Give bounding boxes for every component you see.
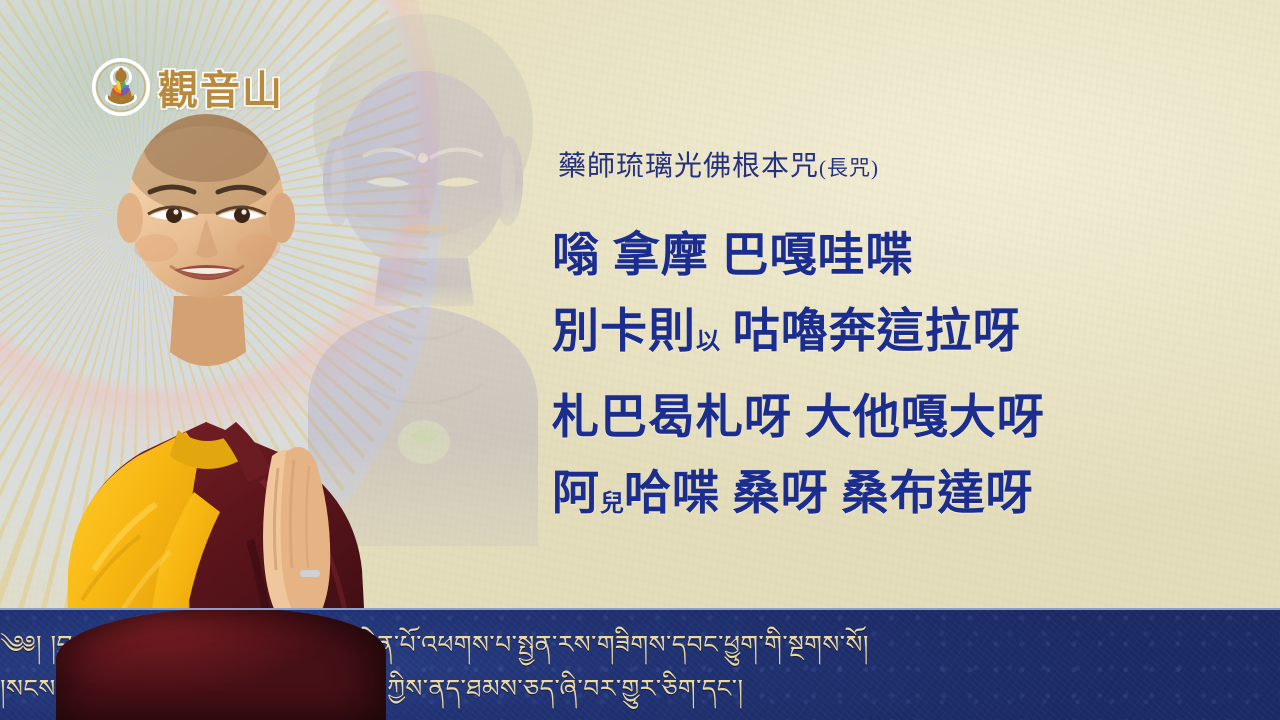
- channel-logo[interactable]: 觀音山: [92, 58, 284, 116]
- mantra-title: 藥師琉璃光佛根本咒(長咒): [558, 144, 1252, 184]
- mantra-line-4-pre: 阿: [552, 468, 600, 520]
- video-frame: 觀音山 藥師琉璃光佛根本咒(長咒) 嗡 拿摩 巴嘎哇喋 別卡則以 咕嚕奔這拉呀 …: [0, 0, 1280, 720]
- mantra-line-2: 別卡則以 咕嚕奔這拉呀: [552, 294, 1252, 380]
- mantra-text-block: 藥師琉璃光佛根本咒(長咒) 嗡 拿摩 巴嘎哇喋 別卡則以 咕嚕奔這拉呀 札巴曷札…: [552, 144, 1252, 542]
- mantra-line-4-post: 哈喋 桑呀 桑布達呀: [624, 468, 1034, 520]
- mantra-line-2-pre: 別卡則: [552, 306, 696, 358]
- mantra-line-2-small-gloss: 以: [696, 329, 720, 355]
- mantra-line-2-post: 咕嚕奔這拉呀: [720, 306, 1021, 358]
- mantra-line-1: 嗡 拿摩 巴嘎哇喋: [552, 218, 1252, 294]
- mantra-line-4-small-gloss: 兒: [600, 491, 624, 517]
- mantra-line-4: 阿兒哈喋 桑呀 桑布達呀: [552, 456, 1252, 542]
- tibetan-script-band: ༄༅། །བྱང་ཆུབ་སེམས་དཔའ་སེམས་དཔའ་ཆེན་པོ་འཕ…: [0, 608, 1280, 720]
- mantra-title-paren: (長咒): [819, 156, 879, 180]
- logo-text: 觀音山: [158, 58, 284, 116]
- mantra-line-3-text: 札巴曷札呀 大他嘎大呀: [552, 392, 1045, 444]
- mantra-line-3: 札巴曷札呀 大他嘎大呀: [552, 380, 1252, 456]
- mantra-line-1-text: 嗡 拿摩 巴嘎哇喋: [552, 230, 914, 282]
- robe-overlapping-band: [56, 608, 386, 720]
- mantra-title-main: 藥師琉璃光佛根本咒: [558, 151, 819, 182]
- seated-buddha-lotus-icon: [92, 58, 150, 116]
